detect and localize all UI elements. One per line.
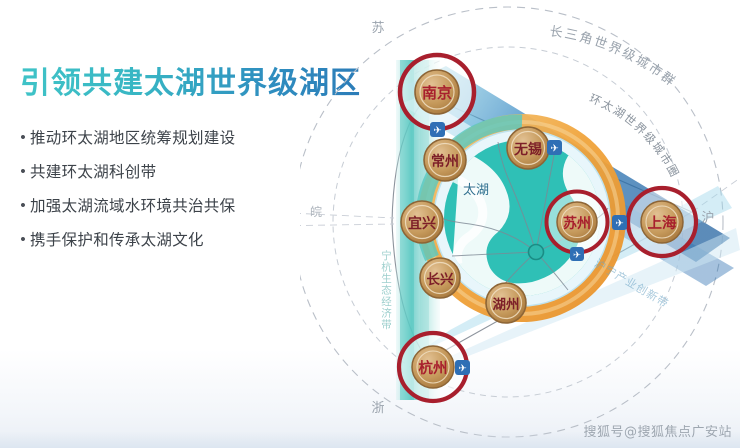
city-label: 无锡 (513, 141, 542, 158)
bullet-text: 加强太湖流域水环境共治共保 (30, 196, 235, 216)
province-tag-wan: 皖 (310, 205, 322, 219)
bullet-text: 推动环太湖地区统筹规划建设 (30, 128, 235, 148)
province-tag-zhe: 浙 (371, 401, 384, 416)
lake-label: 太湖 (463, 183, 489, 198)
airport-icon: ✈ (547, 140, 562, 155)
slide-canvas: 引领共建太湖世界级湖区 • 推动环太湖地区统筹规划建设 • 共建环太湖科创带 •… (0, 0, 740, 448)
taihu-region-map: 太湖 长三角世界级城市群 环太湖世界级城市圈 沪宁产业创新带 宁杭 (300, 0, 740, 448)
city-label: 南京 (422, 84, 452, 102)
city-marker-changzhou[interactable]: 常州 (424, 139, 466, 181)
airport-glyph: ✈ (573, 250, 581, 261)
province-tag-label: 浙 (371, 401, 384, 416)
city-marker-huzhou[interactable]: 湖州 (486, 283, 526, 323)
bullet-dot-icon: • (16, 196, 30, 216)
city-label: 长兴 (427, 271, 454, 288)
province-tag-su: 苏 (371, 20, 384, 36)
airport-glyph: ✈ (433, 126, 441, 137)
province-tag-label: 皖 (310, 205, 322, 219)
watermark: 搜狐号@搜狐焦点广安站 (583, 421, 732, 440)
airport-icon: ✈ (430, 122, 445, 137)
bullet-dot-icon: • (16, 162, 30, 182)
bullet-text: 携手保护和传承太湖文化 (30, 230, 204, 250)
airport-icon: ✈ (570, 247, 584, 261)
bullet-dot-icon: • (16, 230, 30, 250)
svg-text:宁杭生态经济带: 宁杭生态经济带 (380, 249, 392, 330)
city-label: 湖州 (493, 297, 520, 313)
city-label: 上海 (648, 214, 677, 232)
airport-icon: ✈ (612, 215, 627, 230)
airport-glyph: ✈ (458, 364, 466, 375)
bullet-text: 共建环太湖科创带 (30, 162, 156, 182)
city-marker-yixing[interactable]: 宜兴 (401, 201, 443, 243)
city-label: 宜兴 (408, 215, 436, 232)
province-tag-label: 沪 (701, 210, 714, 226)
city-marker-hangzhou[interactable]: 杭州 ✈ (397, 331, 470, 403)
city-marker-changxing[interactable]: 长兴 (420, 258, 460, 298)
province-tag-hu: 沪 (701, 210, 714, 226)
city-label: 杭州 (419, 359, 448, 377)
airport-glyph: ✈ (615, 219, 623, 230)
city-label: 常州 (431, 153, 459, 170)
airport-glyph: ✈ (550, 144, 558, 155)
lake-hub-node (529, 245, 544, 260)
city-label: 苏州 (563, 215, 591, 232)
vertical-belt-label-text: 宁杭生态经济带 (380, 249, 392, 330)
province-tag-label: 苏 (371, 20, 384, 36)
vertical-belt-label: 宁杭生态经济带 (380, 249, 392, 330)
bullet-dot-icon: • (16, 128, 30, 148)
airport-icon: ✈ (455, 360, 470, 375)
